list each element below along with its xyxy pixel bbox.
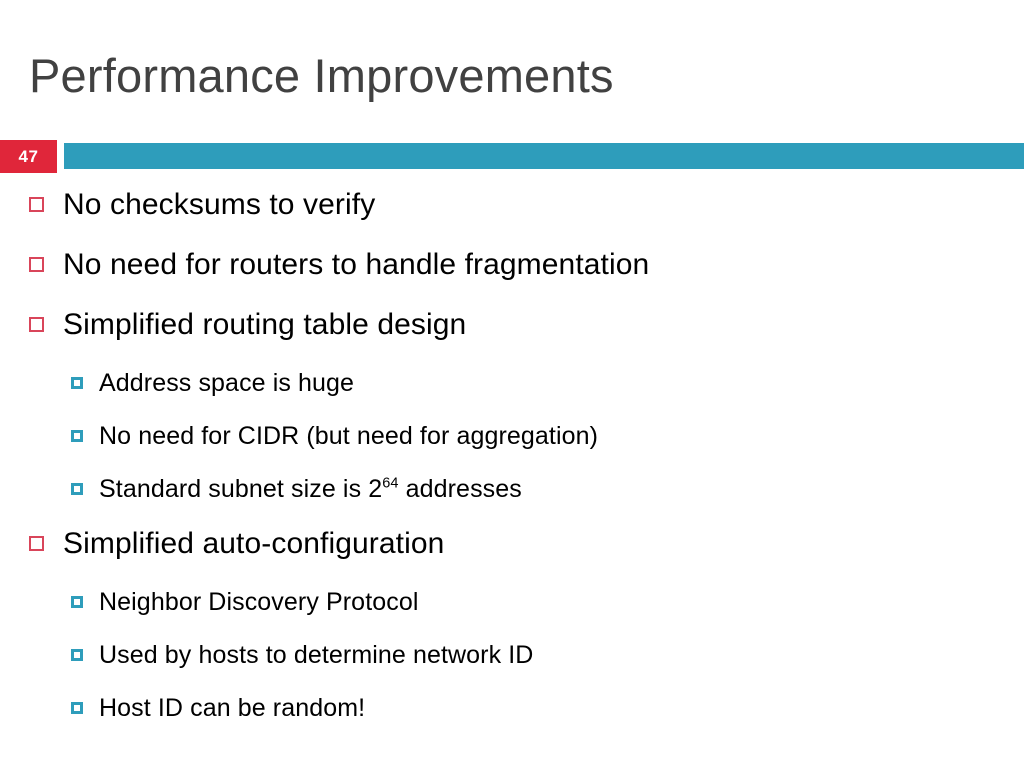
bullet-item-label: No checksums to verify (63, 186, 1024, 224)
bullet-item: Standard subnet size is 264 addresses (0, 472, 1024, 525)
bullet-item-label: Standard subnet size is 264 addresses (99, 472, 1024, 506)
bullet-item-label: Host ID can be random! (99, 691, 1024, 725)
bullet-square-filled-icon (71, 430, 83, 442)
title-divider: 47 (0, 140, 1024, 173)
bullet-item-label: Address space is huge (99, 366, 1024, 400)
bullet-item: No need for CIDR (but need for aggregati… (0, 419, 1024, 472)
bullet-square-filled-icon (71, 377, 83, 389)
bullet-list: No checksums to verifyNo need for router… (0, 186, 1024, 744)
slide-number-badge: 47 (0, 140, 57, 173)
exponent-label: 64 (382, 476, 398, 492)
bullet-square-outline-icon (29, 317, 44, 332)
bullet-item-label: Simplified routing table design (63, 306, 1024, 344)
page-title: Performance Improvements (29, 50, 614, 102)
bullet-item: Neighbor Discovery Protocol (0, 585, 1024, 638)
bullet-item: No checksums to verify (0, 186, 1024, 246)
bullet-item-label: No need for routers to handle fragmentat… (63, 246, 1024, 284)
bullet-item: Simplified auto-configuration (0, 525, 1024, 585)
accent-bar (64, 143, 1024, 169)
bullet-square-filled-icon (71, 596, 83, 608)
bullet-item-label: Used by hosts to determine network ID (99, 638, 1024, 672)
bullet-item-label: Neighbor Discovery Protocol (99, 585, 1024, 619)
bullet-item: Used by hosts to determine network ID (0, 638, 1024, 691)
bullet-square-filled-icon (71, 649, 83, 661)
bullet-square-outline-icon (29, 257, 44, 272)
bullet-item: Address space is huge (0, 366, 1024, 419)
bullet-item-label: Simplified auto-configuration (63, 525, 1024, 563)
bullet-item-label: No need for CIDR (but need for aggregati… (99, 419, 1024, 453)
bullet-square-filled-icon (71, 483, 83, 495)
bullet-item: Host ID can be random! (0, 691, 1024, 744)
bullet-item: Simplified routing table design (0, 306, 1024, 366)
bullet-square-outline-icon (29, 197, 44, 212)
bullet-item-label-tail: addresses (399, 475, 522, 503)
slide-canvas: Performance Improvements 47 No checksums… (0, 0, 1024, 768)
bullet-item: No need for routers to handle fragmentat… (0, 246, 1024, 306)
bullet-square-outline-icon (29, 536, 44, 551)
bullet-square-filled-icon (71, 702, 83, 714)
